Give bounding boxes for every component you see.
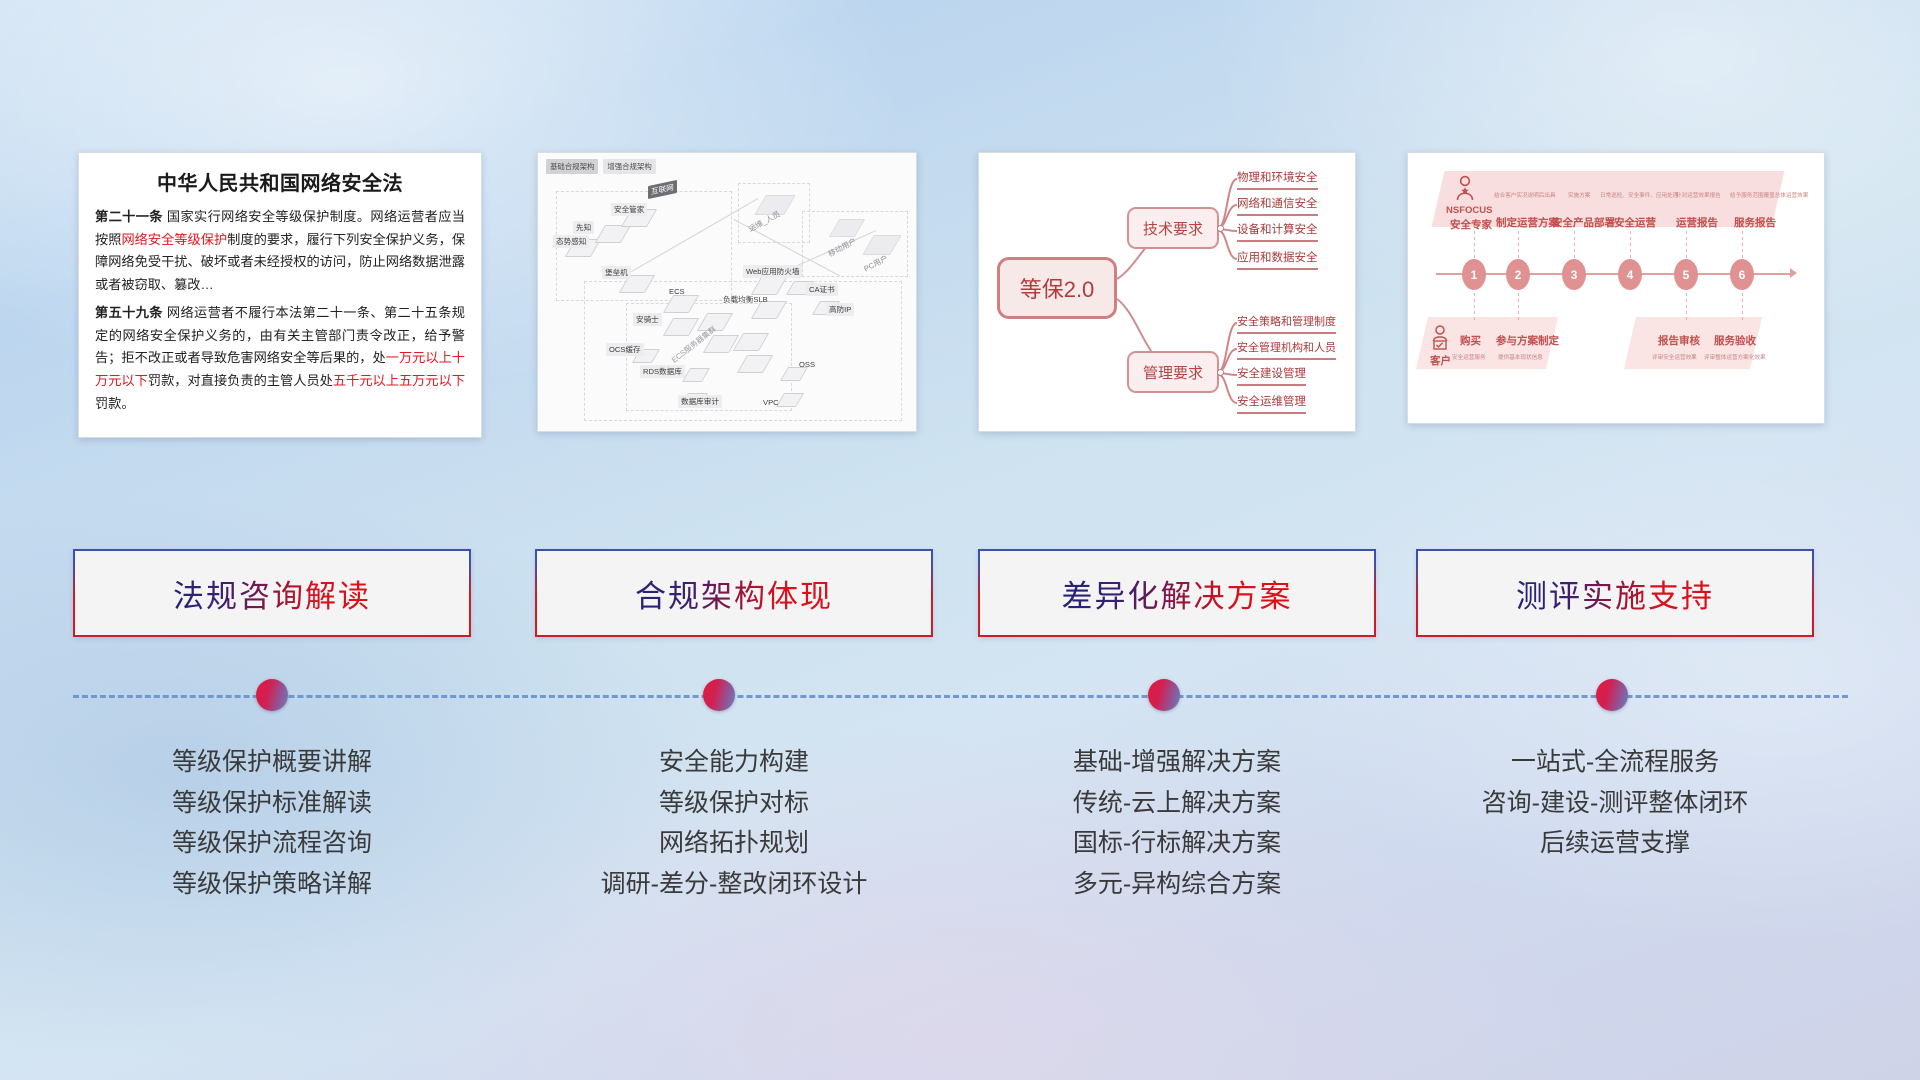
arch-label-db-audit: 数据库审计 [678,395,722,408]
timeline-dashed-line [73,695,1848,698]
flow-bottom-sub-2: 评审安全运营效果 [1652,353,1697,361]
article-59-text-3: 罚款。 [95,396,135,411]
title-label-architecture: 合规架构体现 [635,571,833,616]
article-59-label: 第五十九条 [95,305,163,320]
nsfocus-service-flow-card: NSFOCUS 安全专家 客户 结合客户实况说明后出具 制定运营方案 实施方案 … [1407,152,1825,424]
flow-step-1[interactable]: 1 [1462,259,1486,290]
mindmap-collapse-dot-mgmt[interactable] [1217,369,1224,376]
dengbao-mindmap-card: 等保2.0 技术要求 物理和环境安全 网络和通信安全 设备和计算安全 应用和数据… [978,152,1356,432]
flow-top-sub-2: 日常巡检、安全事件、应用处理 [1600,191,1678,199]
arch-label-ocs: OCS缓存 [606,343,644,356]
law-article-59: 第五十九条 网络运营者不履行本法第二十一条、第二十五条规定的网络安全保护义务的，… [95,302,465,416]
mindmap-branch-mgmt: 管理要求 [1127,351,1219,393]
arch-label-vpc: VPC [760,397,782,408]
flow-step-3[interactable]: 3 [1562,259,1586,290]
title-label-assessment: 测评实施支持 [1516,571,1714,616]
list-regulation: 等级保护概要讲解 等级保护标准解读 等级保护流程咨询 等级保护策略详解 [73,742,471,904]
flow-tick-3 [1574,231,1575,259]
list-item: 多元-异构综合方案 [978,864,1376,905]
flow-step-2[interactable]: 2 [1506,259,1530,290]
list-assessment: 一站式-全流程服务 咨询-建设-测评整体闭环 后续运营支撑 [1406,742,1824,864]
law-card-title: 中华人民共和国网络安全法 [95,167,465,196]
list-architecture: 安全能力构建 等级保护对标 网络拓扑规划 调研-差分-整改闭环设计 [535,742,933,904]
flow-bottom-head-3: 服务验收 [1714,333,1756,348]
arch-label-antiddos: 高防IP [826,303,854,316]
flow-bottom-head-0: 购买 [1460,333,1481,348]
article-59-text-2: 罚款，对直接负责的主管人员处 [148,373,333,388]
flow-top-head-1: 安全产品部署 [1552,215,1615,230]
timeline-dot-regulation[interactable] [256,679,288,711]
flow-tick-b1 [1474,293,1475,323]
article-21-highlight: 网络安全等级保护 [121,232,227,247]
arch-tab-basic[interactable]: 基础合规架构 [546,159,598,174]
arch-tab-group: 基础合规架构 增强合规架构 [546,159,656,174]
mindmap-leaf-mgmt-1: 安全管理机构和人员 [1237,339,1336,360]
mindmap-leaf-mgmt-3: 安全运维管理 [1237,393,1306,414]
flow-tick-6 [1742,231,1743,259]
customer-role-label: 客户 [1430,353,1451,368]
mindmap-leaf-mgmt-2: 安全建设管理 [1237,365,1306,386]
customer-person-icon [1430,325,1450,356]
arch-label-situation: 态势感知 [553,235,589,248]
arch-label-oss: OSS [796,359,818,370]
flow-top-sub-0: 结合客户实况说明后出具 [1494,191,1556,199]
cloud-architecture-card: 基础合规架构 增强合规架构 [537,152,917,432]
flow-step-4[interactable]: 4 [1618,259,1642,290]
mindmap-leaf-tech-0: 物理和环境安全 [1237,169,1318,190]
flow-tick-b4 [1742,293,1743,323]
article-21-label: 第二十一条 [95,209,163,224]
flow-bottom-head-2: 报告审核 [1658,333,1700,348]
list-item: 国标-行标解决方案 [978,823,1376,864]
timeline-dot-solution[interactable] [1148,679,1180,711]
arch-label-threat: 先知 [573,221,594,234]
law-article-21: 第二十一条 国家实行网络安全等级保护制度。网络运营者应当按照网络安全等级保护制度… [95,206,465,297]
flow-tick-2 [1518,231,1519,259]
flow-tick-b3 [1686,293,1687,323]
timeline-dot-assessment[interactable] [1596,679,1628,711]
mindmap-leaf-tech-3: 应用和数据安全 [1237,249,1318,270]
list-item: 一站式-全流程服务 [1406,742,1824,783]
arch-label-butler: 安全管家 [611,203,647,216]
flow-bottom-sub-1: 提供基本现状信息 [1498,353,1543,361]
flow-top-head-3: 运营报告 [1676,215,1718,230]
expert-brand-label: NSFOCUS [1446,205,1492,216]
flow-bottom-head-1: 参与方案制定 [1496,333,1559,348]
flow-tick-4 [1630,231,1631,259]
title-label-regulation: 法规咨询解读 [173,571,371,616]
list-item: 等级保护标准解读 [73,783,471,824]
flow-top-head-2: 安全运营 [1614,215,1656,230]
flow-step-5[interactable]: 5 [1674,259,1698,290]
title-box-assessment[interactable]: 测评实施支持 [1416,549,1814,637]
expert-person-icon [1454,175,1476,206]
list-item: 等级保护概要讲解 [73,742,471,783]
timeline-dot-architecture[interactable] [703,679,735,711]
mindmap-leaf-mgmt-0: 安全策略和管理制度 [1237,313,1336,334]
list-item: 等级保护流程咨询 [73,823,471,864]
title-label-solution: 差异化解决方案 [1062,571,1293,616]
flow-axis-arrow-icon [1790,268,1797,278]
mindmap-collapse-dot-tech[interactable] [1217,225,1224,232]
list-item: 等级保护策略详解 [73,864,471,905]
arch-label-rds: RDS数据库 [640,365,685,378]
expert-role-label: 安全专家 [1450,217,1492,232]
list-item: 网络拓扑规划 [535,823,933,864]
list-item: 咨询-建设-测评整体闭环 [1406,783,1824,824]
list-item: 后续运营支撑 [1406,823,1824,864]
list-solution: 基础-增强解决方案 传统-云上解决方案 国标-行标解决方案 多元-异构综合方案 [978,742,1376,904]
law-text-card: 中华人民共和国网络安全法 第二十一条 国家实行网络安全等级保护制度。网络运营者应… [78,152,482,438]
title-box-regulation[interactable]: 法规咨询解读 [73,549,471,637]
arch-label-bastion: 堡垒机 [602,266,631,279]
flow-step-6[interactable]: 6 [1730,259,1754,290]
mindmap-leaf-tech-1: 网络和通信安全 [1237,195,1318,216]
arch-label-waf: Web应用防火墙 [743,265,802,278]
mindmap-leaf-tech-2: 设备和计算安全 [1237,221,1318,242]
title-box-solution[interactable]: 差异化解决方案 [978,549,1376,637]
title-box-architecture[interactable]: 合规架构体现 [535,549,933,637]
flow-top-sub-3: 针对运营效果报告 [1676,191,1721,199]
flow-bottom-sub-0: 安全运营服务 [1452,353,1486,361]
mindmap-root-node: 等保2.0 [997,257,1117,319]
flow-tick-1 [1474,231,1475,259]
arch-label-ecs: ECS [666,286,688,297]
article-59-highlight-2: 五千元以上五万元以下 [333,373,465,388]
slide-canvas: 中华人民共和国网络安全法 第二十一条 国家实行网络安全等级保护制度。网络运营者应… [0,0,1920,1080]
list-item: 安全能力构建 [535,742,933,783]
flow-top-sub-1: 实施方案 [1568,191,1590,199]
list-item: 传统-云上解决方案 [978,783,1376,824]
arch-label-ca: CA证书 [806,283,838,296]
arch-label-slb: 负载均衡SLB [720,293,771,306]
flow-tick-5 [1686,231,1687,259]
list-item: 基础-增强解决方案 [978,742,1376,783]
list-item: 调研-差分-整改闭环设计 [535,864,933,905]
flow-top-head-4: 服务报告 [1734,215,1776,230]
flow-top-sub-4: 给予服务范围覆盖总体运营效果 [1730,191,1808,199]
arch-label-anti-rider: 安骑士 [633,313,662,326]
list-item: 等级保护对标 [535,783,933,824]
flow-bottom-sub-3: 评审整体运营方案化效果 [1704,353,1766,361]
flow-tick-b2 [1518,293,1519,323]
mindmap-branch-tech: 技术要求 [1127,207,1219,249]
arch-tab-enhanced[interactable]: 增强合规架构 [603,159,655,174]
flow-top-head-0: 制定运营方案 [1496,215,1559,230]
